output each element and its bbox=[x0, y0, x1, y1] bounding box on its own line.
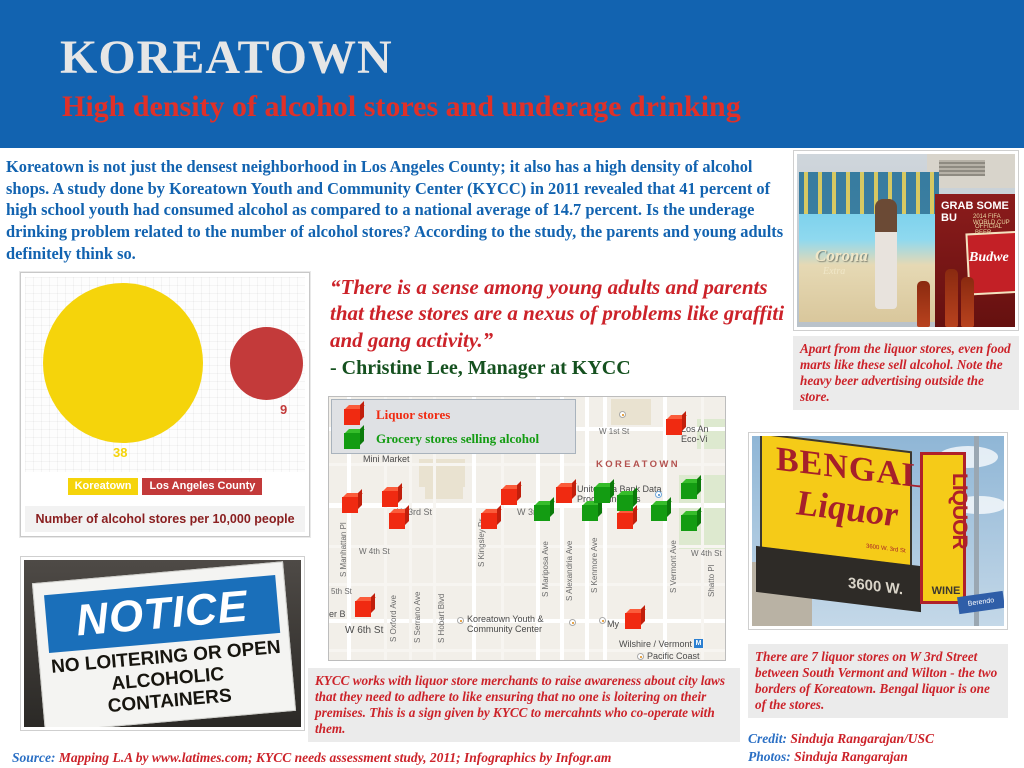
bubble-los-angeles-county bbox=[230, 327, 303, 400]
photo-model-figure bbox=[875, 199, 897, 309]
credit-label: Credit: bbox=[748, 731, 787, 746]
photo-no-loitering-notice-sign: NOTICE NO LOITERING OR OPEN ALCOHOLIC CO… bbox=[20, 556, 305, 731]
map-street-label-s-alexandria-ave: S Alexandria Ave bbox=[565, 541, 574, 601]
map-legend-row-liquor: Liquor stores bbox=[344, 405, 575, 425]
map-poi-dot[interactable] bbox=[637, 653, 644, 660]
caption-bengal-photo: There are 7 liquor stores on W 3rd Stree… bbox=[748, 644, 1008, 718]
photos-label: Photos: bbox=[748, 749, 791, 764]
map-road-vertical bbox=[585, 396, 589, 661]
map-marker-liquor-store[interactable] bbox=[389, 509, 409, 529]
map-marker-grocery-store[interactable] bbox=[617, 491, 637, 511]
photo-bengal-liquor-storefront: BENGAL Liquor 3600 W. 3rd St 3600 W. LIQ… bbox=[748, 432, 1008, 630]
map-poi-dot[interactable] bbox=[569, 619, 576, 626]
photo-text-corona: Corona bbox=[815, 246, 868, 266]
photo-image: BENGAL Liquor 3600 W. 3rd St 3600 W. LIQ… bbox=[752, 436, 1004, 626]
red-cube-icon bbox=[344, 405, 364, 425]
map-street-label-w-1st-st: W 1st St bbox=[599, 427, 629, 436]
map-street-label-w-4th-st: W 4th St bbox=[691, 549, 722, 558]
photo-image: NOTICE NO LOITERING OR OPEN ALCOHOLIC CO… bbox=[24, 560, 301, 727]
map-marker-grocery-store[interactable] bbox=[582, 501, 602, 521]
map-street-label-s-kenmore-ave: S Kenmore Ave bbox=[590, 538, 599, 593]
map-marker-liquor-store[interactable] bbox=[556, 483, 576, 503]
map-poi-label-los-an-eco-vi: Los An Eco-Vi bbox=[681, 425, 723, 445]
intro-paragraph: Koreatown is not just the densest neighb… bbox=[6, 156, 796, 264]
chart-legend: Koreatown Los Angeles County bbox=[21, 478, 309, 495]
photo-sign-panel: NOTICE NO LOITERING OR OPEN ALCOHOLIC CO… bbox=[32, 561, 296, 727]
source-line: Source: Mapping L.A by www.latimes.com; … bbox=[12, 750, 611, 766]
green-cube-icon bbox=[344, 429, 364, 449]
map-poi-dot[interactable] bbox=[619, 411, 626, 418]
credit-value: Sinduja Rangarajan/USC bbox=[787, 731, 934, 746]
bubble-value-koreatown: 38 bbox=[113, 445, 127, 460]
map-marker-grocery-store[interactable] bbox=[594, 483, 614, 503]
photos-credit-line: Photos: Sinduja Rangarajan bbox=[748, 748, 934, 766]
map-marker-liquor-store[interactable] bbox=[342, 493, 362, 513]
map-marker-liquor-store[interactable] bbox=[382, 487, 402, 507]
map-poi-label-er-b: er B bbox=[329, 609, 346, 619]
map-street-label-s-vermont-ave: S Vermont Ave bbox=[669, 540, 678, 593]
map-marker-liquor-store[interactable] bbox=[666, 415, 686, 435]
pull-quote: “There is a sense among young adults and… bbox=[330, 274, 790, 380]
map-marker-grocery-store[interactable] bbox=[534, 501, 554, 521]
map-area-label-koreatown: KOREATOWN bbox=[596, 459, 680, 470]
bubble-value-los-angeles-county: 9 bbox=[280, 402, 287, 417]
photo-text-wine: WINE bbox=[923, 585, 969, 597]
map-poi-label-my: My bbox=[607, 619, 619, 629]
photo-beer-bottle bbox=[945, 269, 958, 327]
caption-notice-photo: KYCC works with liquor store merchants t… bbox=[308, 668, 740, 742]
bubble-chart: 38 9 Koreatown Los Angeles County Number… bbox=[20, 272, 310, 537]
legend-item-los-angeles-county: Los Angeles County bbox=[142, 478, 262, 495]
quote-text: “There is a sense among young adults and… bbox=[330, 274, 790, 353]
map-poi-dot[interactable] bbox=[457, 617, 464, 624]
map-legend-label-grocery: Grocery stores selling alcohol bbox=[376, 431, 539, 447]
map-marker-liquor-store[interactable] bbox=[617, 509, 637, 529]
map-marker-liquor-store[interactable] bbox=[481, 509, 501, 529]
source-value: Mapping L.A by www.latimes.com; KYCC nee… bbox=[56, 750, 612, 765]
koreatown-alcohol-store-map[interactable]: KOREATOWN W 1st St W 3rd St W 3rd St W 4… bbox=[328, 396, 726, 661]
map-legend: Liquor stores Grocery stores selling alc… bbox=[331, 399, 576, 454]
photo-blade-sign: LIQUOR WINE bbox=[920, 452, 966, 604]
map-marker-grocery-store[interactable] bbox=[681, 511, 701, 531]
page-header: KOREATOWN High density of alcohol stores… bbox=[0, 0, 1024, 148]
map-transit-badge[interactable]: M bbox=[694, 639, 703, 648]
map-street-label-5th-st: 5th St bbox=[331, 587, 352, 596]
page-title: KOREATOWN bbox=[60, 34, 393, 82]
map-road-vertical bbox=[663, 396, 667, 661]
photo-vent bbox=[939, 160, 985, 176]
map-street-label-w-6th-st: W 6th St bbox=[345, 625, 383, 636]
map-street-label-shatto-pl: Shatto Pl bbox=[707, 565, 716, 597]
chart-caption: Number of alcohol stores per 10,000 peop… bbox=[25, 506, 305, 532]
photo-text-official-beer: OFFICIAL BEER bbox=[975, 224, 1015, 236]
map-marker-grocery-store[interactable] bbox=[681, 479, 701, 499]
map-block-fill bbox=[425, 481, 463, 499]
map-marker-liquor-store[interactable] bbox=[625, 609, 645, 629]
photo-liquor-store-beer-advertising: Corona Extra GRAB SOME BU 2014 FIFA WORL… bbox=[793, 150, 1019, 331]
quote-attribution: - Christine Lee, Manager at KYCC bbox=[330, 357, 790, 380]
map-street-label-s-hobart-blvd: S Hobart Blvd bbox=[437, 594, 446, 643]
map-poi-label-kycc: Koreatown Youth & Community Center bbox=[467, 615, 545, 635]
map-poi-label-wilshire-vermont: Wilshire / Vermont bbox=[619, 639, 692, 649]
photo-image: Corona Extra GRAB SOME BU 2014 FIFA WORL… bbox=[797, 154, 1015, 327]
photos-value: Sinduja Rangarajan bbox=[791, 749, 908, 764]
photo-beer-bottle bbox=[961, 277, 974, 327]
map-marker-liquor-store[interactable] bbox=[501, 485, 521, 505]
photo-text-blade-liquor: LIQUOR bbox=[923, 473, 969, 549]
legend-item-koreatown: Koreatown bbox=[68, 478, 139, 495]
photo-text-extra: Extra bbox=[823, 266, 845, 277]
map-marker-grocery-store[interactable] bbox=[651, 501, 671, 521]
map-street-label-s-serrano-ave: S Serrano Ave bbox=[413, 592, 422, 643]
credit-line: Credit: Sinduja Rangarajan/USC bbox=[748, 730, 934, 748]
map-block-fill bbox=[611, 399, 651, 425]
photo-text-budweiser: Budwe bbox=[969, 250, 1009, 266]
map-street-label-s-oxford-ave: S Oxford Ave bbox=[389, 595, 398, 642]
map-legend-label-liquor: Liquor stores bbox=[376, 407, 450, 423]
map-poi-label-pacific-coast: Pacific Coast bbox=[647, 651, 700, 661]
source-label: Source: bbox=[12, 750, 56, 765]
map-canvas[interactable]: KOREATOWN W 1st St W 3rd St W 3rd St W 4… bbox=[329, 397, 725, 660]
map-legend-row-grocery: Grocery stores selling alcohol bbox=[344, 429, 575, 449]
map-street-label-w-4th-st: W 4th St bbox=[359, 547, 390, 556]
photo-bottle-row bbox=[799, 172, 939, 214]
bubble-koreatown bbox=[43, 283, 203, 443]
caption-beer-photo: Apart from the liquor stores, even food … bbox=[793, 336, 1019, 410]
page-subtitle: High density of alcohol stores and under… bbox=[62, 92, 741, 122]
map-street-label-s-manhattan-pl: S Manhattan Pl bbox=[339, 522, 348, 577]
credits-block: Credit: Sinduja Rangarajan/USC Photos: S… bbox=[748, 730, 934, 765]
map-marker-liquor-store[interactable] bbox=[355, 597, 375, 617]
map-poi-dot[interactable] bbox=[599, 617, 606, 624]
map-poi-dot[interactable] bbox=[655, 491, 662, 498]
photo-text-address-small: 3600 W. 3rd St bbox=[866, 544, 906, 555]
map-street-label-s-mariposa-ave: S Mariposa Ave bbox=[541, 541, 550, 597]
photo-bengal-sign-board: BENGAL Liquor 3600 W. 3rd St bbox=[760, 436, 912, 567]
chart-plot-area: 38 9 bbox=[25, 277, 305, 472]
photo-beer-bottle bbox=[917, 281, 930, 327]
